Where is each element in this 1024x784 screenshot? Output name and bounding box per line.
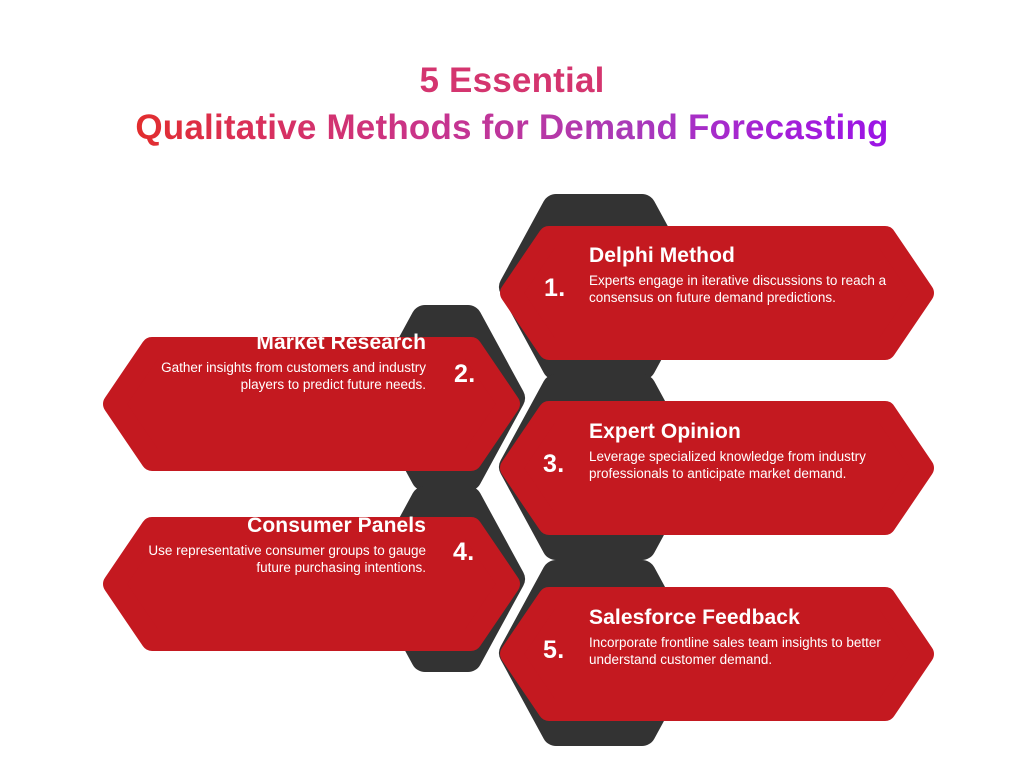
step-5-description: Incorporate frontline sales team insight… <box>589 635 899 668</box>
step-5-text: Salesforce Feedback Incorporate frontlin… <box>589 605 899 668</box>
step-card-5[interactable]: 5. Salesforce Feedback Incorporate front… <box>0 0 1024 784</box>
infographic-diagram: 1. Delphi Method Experts engage in itera… <box>0 0 1024 784</box>
step-5-title: Salesforce Feedback <box>589 605 899 630</box>
step-5-number: 5. <box>543 636 564 665</box>
